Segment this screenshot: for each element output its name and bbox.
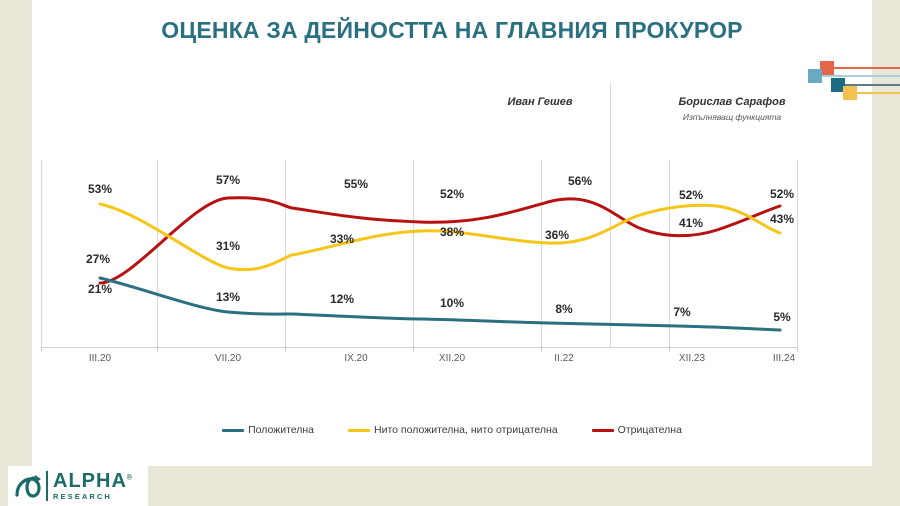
x-tick-4	[541, 347, 542, 352]
chart-legend: Положителна Нито положителна, нито отриц…	[32, 420, 872, 440]
data-label-negative-5: 41%	[669, 216, 713, 230]
legend-label-negative: Отрицателна	[618, 424, 682, 436]
data-label-positive-3: 10%	[430, 296, 474, 310]
legend-marker-negative	[592, 429, 614, 432]
x-tick-3	[413, 347, 414, 352]
data-label-neutral-2: 33%	[320, 232, 364, 246]
data-label-positive-6: 5%	[760, 310, 804, 324]
x-tick-1	[157, 347, 158, 352]
data-label-negative-3: 52%	[430, 187, 474, 201]
data-label-negative-1: 57%	[206, 173, 250, 187]
data-label-negative-0: 21%	[78, 282, 122, 296]
data-label-neutral-1: 31%	[206, 239, 250, 253]
alpha-research-logo: ALPHA® RESEARCH	[8, 466, 148, 506]
x-axis-label-2: IX.20	[332, 353, 380, 364]
x-tick-6	[797, 347, 798, 352]
x-axis-label-5: XII.23	[668, 353, 716, 364]
data-label-neutral-5: 52%	[669, 188, 713, 202]
x-axis-label-6: III.24	[760, 353, 808, 364]
data-label-positive-2: 12%	[320, 292, 364, 306]
logo-alpha-text: ALPHA®	[53, 471, 133, 491]
data-label-positive-5: 7%	[660, 305, 704, 319]
data-label-negative-6: 52%	[760, 187, 804, 201]
data-label-positive-4: 8%	[542, 302, 586, 316]
logo-wordmark: ALPHA® RESEARCH	[46, 471, 133, 501]
x-tick-2	[285, 347, 286, 352]
legend-item-neutral[interactable]: Нито положителна, нито отрицателна	[348, 424, 558, 436]
legend-label-neutral: Нито положителна, нито отрицателна	[374, 424, 558, 436]
data-label-neutral-4: 36%	[535, 228, 579, 242]
data-label-neutral-3: 38%	[430, 225, 474, 239]
logo-alpha-label: ALPHA	[53, 470, 127, 492]
legend-item-positive[interactable]: Положителна	[222, 424, 314, 436]
data-label-positive-1: 13%	[206, 290, 250, 304]
legend-marker-neutral	[348, 429, 370, 432]
data-label-positive-0: 27%	[76, 252, 120, 266]
legend-label-positive: Положителна	[248, 424, 314, 436]
x-tick-5	[669, 347, 670, 352]
line-chart: Иван Гешев Борислав Сарафов Изпълняващ ф…	[32, 0, 872, 466]
data-label-negative-2: 55%	[334, 177, 378, 191]
alpha-glyph-icon	[14, 473, 44, 499]
slide-canvas: ОЦЕНКА ЗА ДЕЙНОСТТА НА ГЛАВНИЯ ПРОКУРОР …	[0, 0, 900, 506]
x-axis-label-0: III.20	[76, 353, 124, 364]
x-tick-0	[41, 347, 42, 352]
x-axis-label-4: II.22	[540, 353, 588, 364]
x-axis-label-3: XII.20	[428, 353, 476, 364]
logo-research-text: RESEARCH	[53, 493, 133, 501]
x-axis-label-1: VII.20	[204, 353, 252, 364]
data-label-neutral-0: 53%	[78, 182, 122, 196]
legend-item-negative[interactable]: Отрицателна	[592, 424, 682, 436]
data-label-neutral-6: 43%	[760, 212, 804, 226]
data-label-negative-4: 56%	[558, 174, 602, 188]
logo-registered-mark: ®	[127, 475, 133, 482]
legend-marker-positive	[222, 429, 244, 432]
series-line-negative	[100, 198, 780, 283]
